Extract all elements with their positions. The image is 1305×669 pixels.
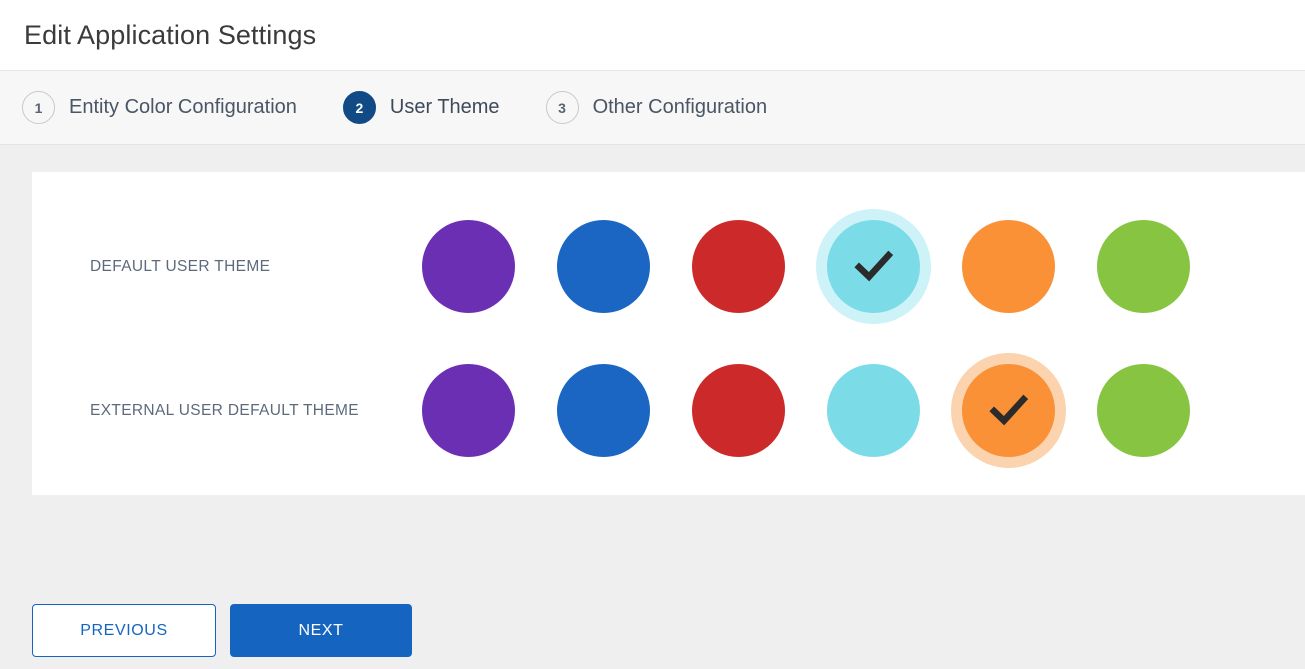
color-swatch-red[interactable]: [692, 220, 785, 313]
theme-row-label: DEFAULT USER THEME: [32, 250, 422, 283]
check-icon: [986, 387, 1032, 433]
color-swatch-cyan-selected[interactable]: [827, 220, 920, 313]
check-icon: [851, 243, 897, 289]
theme-settings-card: DEFAULT USER THEMEEXTERNAL USER DEFAULT …: [32, 172, 1305, 495]
stepper-item-2[interactable]: 2User Theme: [343, 91, 500, 124]
color-swatch-green[interactable]: [1097, 364, 1190, 457]
step-label: Entity Color Configuration: [69, 96, 297, 119]
stepper-item-1[interactable]: 1Entity Color Configuration: [22, 91, 297, 124]
window-titlebar: Edit Application Settings: [0, 0, 1305, 71]
color-swatch-group: [422, 364, 1232, 457]
color-swatch-cyan[interactable]: [827, 364, 920, 457]
page-title: Edit Application Settings: [24, 20, 316, 51]
color-swatch-purple[interactable]: [422, 220, 515, 313]
color-swatch-green[interactable]: [1097, 220, 1190, 313]
step-number-badge: 2: [343, 91, 376, 124]
theme-row: DEFAULT USER THEME: [32, 194, 1305, 338]
color-swatch-group: [422, 220, 1232, 313]
color-swatch-purple[interactable]: [422, 364, 515, 457]
color-swatch-blue[interactable]: [557, 364, 650, 457]
next-button[interactable]: NEXT: [230, 604, 412, 657]
step-label: Other Configuration: [593, 96, 768, 119]
theme-row-label: EXTERNAL USER DEFAULT THEME: [32, 394, 422, 427]
wizard-footer: PREVIOUS NEXT: [0, 604, 1305, 657]
main-content: DEFAULT USER THEMEEXTERNAL USER DEFAULT …: [0, 145, 1305, 495]
color-swatch-blue[interactable]: [557, 220, 650, 313]
stepper-item-3[interactable]: 3Other Configuration: [546, 91, 768, 124]
step-label: User Theme: [390, 96, 500, 119]
step-number-badge: 1: [22, 91, 55, 124]
previous-button[interactable]: PREVIOUS: [32, 604, 216, 657]
step-number-badge: 3: [546, 91, 579, 124]
color-swatch-red[interactable]: [692, 364, 785, 457]
color-swatch-orange[interactable]: [962, 220, 1055, 313]
wizard-stepper: 1Entity Color Configuration2User Theme3O…: [0, 71, 1305, 145]
color-swatch-orange-selected[interactable]: [962, 364, 1055, 457]
theme-row: EXTERNAL USER DEFAULT THEME: [32, 338, 1305, 482]
